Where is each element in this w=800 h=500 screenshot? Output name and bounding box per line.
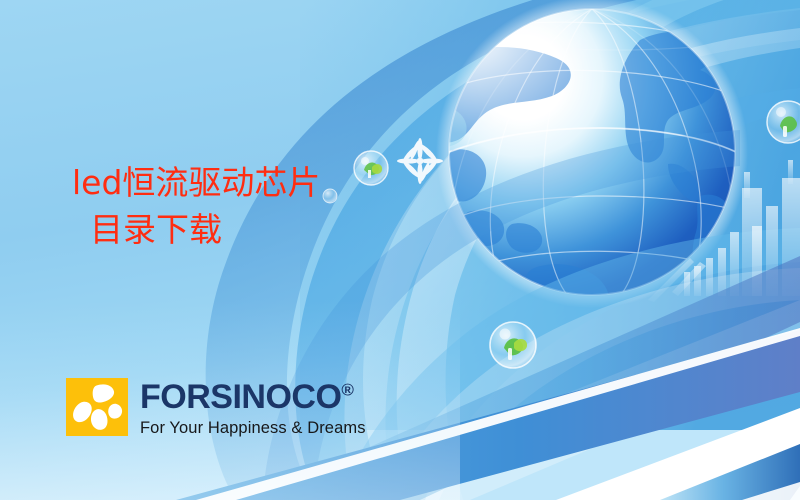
brand-text: FORSINOCO® For Your Happiness & Dreams — [140, 378, 366, 437]
brand-name: FORSINOCO® — [140, 380, 366, 414]
bubble-orb-tiny — [323, 189, 337, 203]
four-petal-pinwheel-icon — [66, 378, 128, 436]
bubble-orb-small — [354, 151, 388, 185]
registered-mark-icon: ® — [341, 381, 353, 400]
brand-tagline: For Your Happiness & Dreams — [140, 420, 366, 437]
bubble-orb-medium — [490, 322, 536, 368]
brand-name-text: FORSINOCO — [140, 378, 341, 416]
poster-canvas: led恒流驱动芯片 目录下载 FORSINOCO® For Your Happi… — [0, 0, 800, 500]
brand-logo: FORSINOCO® For Your Happiness & Dreams — [66, 378, 366, 437]
